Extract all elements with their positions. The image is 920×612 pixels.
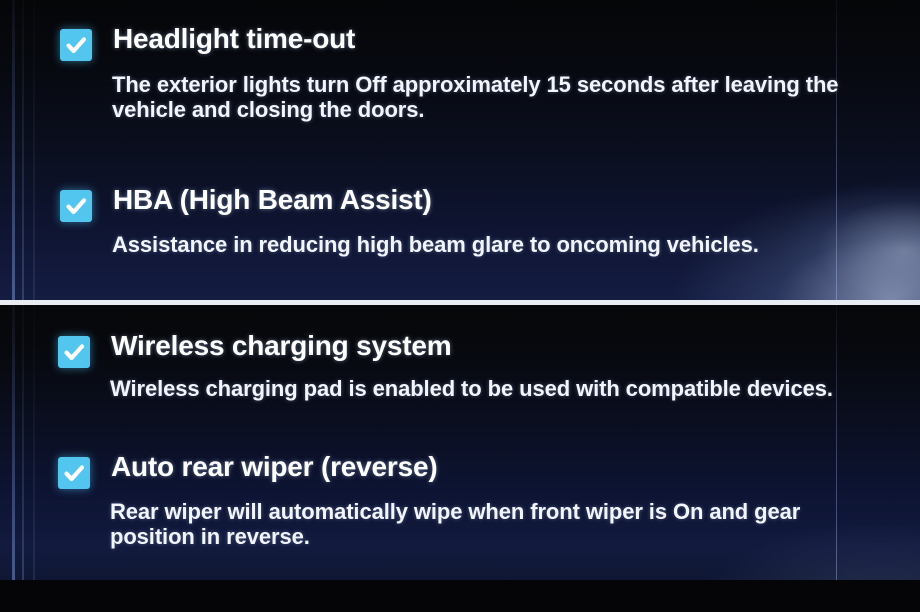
scroll-rail-secondary-lower [22, 305, 24, 580]
setting-description: The exterior lights turn Off approximate… [112, 72, 852, 122]
checkbox-headlight-time-out[interactable] [60, 29, 92, 61]
setting-description: Wireless charging pad is enabled to be u… [110, 376, 850, 401]
screen-bottom-bezel [0, 580, 920, 612]
panel-divider [0, 300, 920, 305]
checkbox-auto-rear-wiper-reverse[interactable] [58, 457, 90, 489]
setting-title: Headlight time-out [113, 23, 355, 55]
scroll-rail-tertiary-lower [33, 305, 35, 580]
scroll-rail-tertiary [33, 0, 35, 301]
vehicle-settings-screen: Headlight time-out The exterior lights t… [0, 0, 920, 612]
setting-description: Rear wiper will automatically wipe when … [110, 499, 850, 549]
setting-title: HBA (High Beam Assist) [113, 184, 432, 216]
setting-description: Assistance in reducing high beam glare t… [112, 232, 852, 257]
setting-title: Wireless charging system [111, 330, 451, 362]
scroll-rail-secondary [22, 0, 24, 301]
scroll-rail-primary-lower[interactable] [12, 305, 15, 580]
setting-title: Auto rear wiper (reverse) [111, 451, 437, 483]
checkbox-wireless-charging-system[interactable] [58, 336, 90, 368]
checkbox-hba-high-beam-assist[interactable] [60, 190, 92, 222]
scroll-rail-primary[interactable] [12, 0, 15, 301]
